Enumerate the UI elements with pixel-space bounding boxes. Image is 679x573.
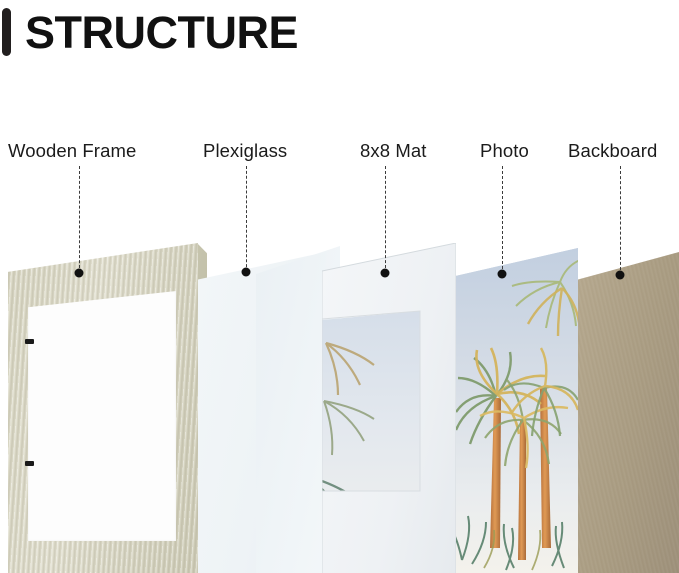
callout-label-wooden-frame: Wooden Frame: [8, 140, 136, 162]
component-backboard: [578, 252, 679, 573]
mat-window-photo-glimpse: [322, 311, 420, 491]
frame-clip-bottom: [25, 461, 34, 466]
leader-line-mat: [385, 166, 386, 273]
leader-dot-mat: [381, 269, 390, 278]
callout-label-backboard: Backboard: [568, 140, 657, 162]
frame-inner-window: [28, 291, 176, 541]
callout-label-photo: Photo: [480, 140, 529, 162]
callout-label-mat: 8x8 Mat: [360, 140, 427, 162]
component-mat: [322, 243, 456, 573]
leader-dot-photo: [498, 270, 507, 279]
backboard-face: [578, 252, 679, 573]
leader-dot-backboard: [616, 271, 625, 280]
exploded-view-stage: [0, 0, 679, 573]
photo-face: [456, 248, 578, 573]
frame-clip-top: [25, 339, 34, 344]
leader-dot-wooden-frame: [75, 269, 84, 278]
component-wooden-frame: [8, 243, 198, 573]
photo-artwork-palm-trees: [456, 248, 578, 573]
structure-infographic: STRUCTURE: [0, 0, 679, 573]
callout-label-plexiglass: Plexiglass: [203, 140, 287, 162]
mat-window-content: [322, 311, 420, 491]
leader-line-plexiglass: [246, 166, 247, 272]
leader-dot-plexiglass: [242, 268, 251, 277]
leader-line-photo: [502, 166, 503, 274]
leader-line-backboard: [620, 166, 621, 275]
mat-window-opening: [322, 311, 420, 491]
component-photo: [456, 248, 578, 573]
leader-line-wooden-frame: [79, 166, 80, 273]
